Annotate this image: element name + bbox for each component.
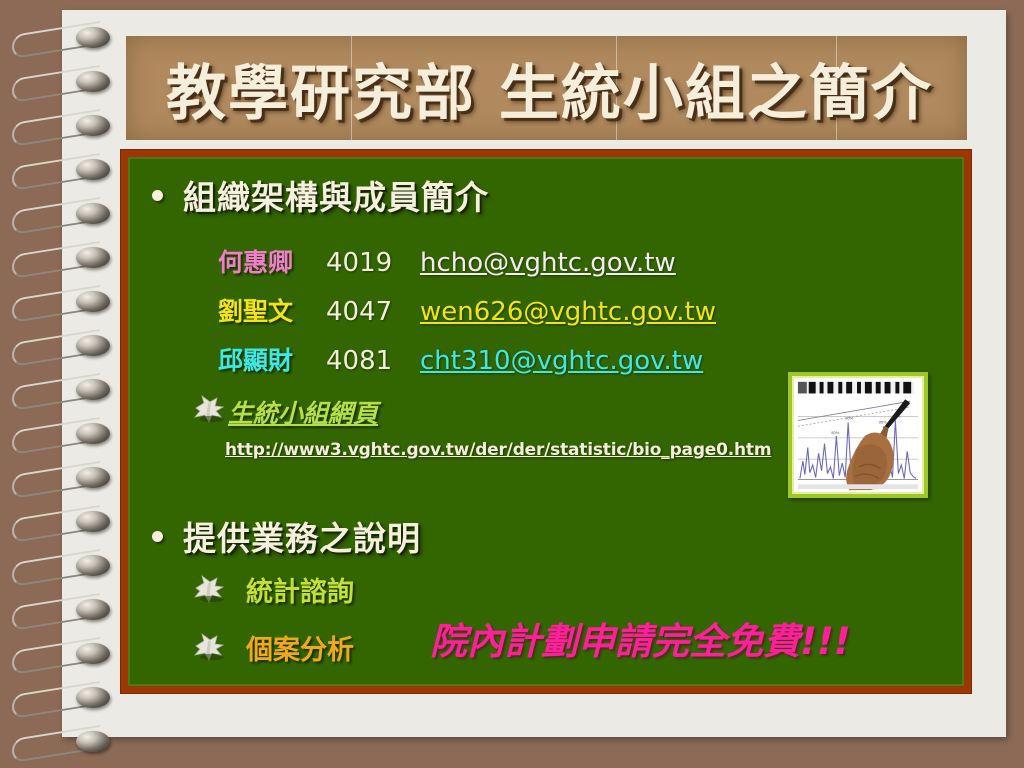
spiral-ring bbox=[12, 290, 120, 316]
contact-name: 何惠卿 bbox=[218, 243, 326, 279]
spiral-ring bbox=[12, 114, 120, 140]
svg-text:90%: 90% bbox=[845, 416, 853, 421]
page-title: 教學研究部 生統小組之簡介 bbox=[126, 45, 967, 132]
contact-name: 劉聖文 bbox=[218, 292, 326, 328]
spiral-ring bbox=[12, 686, 120, 712]
spiral-ring bbox=[12, 554, 120, 580]
section-2-heading-row: 提供業務之說明 bbox=[152, 512, 421, 560]
spiral-ring bbox=[12, 378, 120, 404]
spiral-ring bbox=[12, 598, 120, 624]
contact-name: 邱顯財 bbox=[218, 341, 326, 377]
spiral-ring bbox=[12, 422, 120, 448]
spiral-ring bbox=[12, 26, 120, 52]
free-application-slogan: 院內計劃申請完全免費!!! bbox=[430, 611, 851, 665]
spiral-ring bbox=[12, 510, 120, 536]
round-bullet-icon bbox=[152, 190, 163, 201]
contact-extension: 4019 bbox=[326, 248, 420, 278]
service-item: 統計諮詢 bbox=[246, 570, 354, 609]
contact-row: 劉聖文 4047 wen626@vghtc.gov.tw bbox=[218, 292, 716, 328]
spiral-ring bbox=[12, 730, 120, 756]
section-1-heading: 組織架構與成員簡介 bbox=[183, 171, 489, 219]
star-splat-bullet-icon bbox=[192, 574, 226, 604]
spiral-ring bbox=[12, 202, 120, 228]
star-splat-bullet-icon bbox=[192, 632, 226, 662]
spiral-ring bbox=[12, 70, 120, 96]
section-1-heading-row: 組織架構與成員簡介 bbox=[152, 171, 489, 219]
contact-extension: 4081 bbox=[326, 346, 420, 376]
chart-photo: 90% 95% 98% 80% 85% bbox=[792, 376, 924, 494]
contact-row: 邱顯財 4081 cht310@vghtc.gov.tw bbox=[218, 341, 703, 377]
contact-email-link[interactable]: hcho@vghtc.gov.tw bbox=[420, 248, 676, 278]
contact-email-link[interactable]: cht310@vghtc.gov.tw bbox=[420, 346, 703, 376]
slide-title-banner: 教學研究部 生統小組之簡介 bbox=[126, 36, 967, 140]
section-2-heading: 提供業務之說明 bbox=[183, 512, 421, 560]
chart-photo-frame: 90% 95% 98% 80% 85% bbox=[788, 372, 928, 498]
svg-text:95%: 95% bbox=[879, 419, 887, 424]
round-bullet-icon bbox=[152, 531, 163, 542]
spiral-ring bbox=[12, 466, 120, 492]
star-splat-bullet-icon bbox=[192, 394, 226, 424]
spiral-binding bbox=[0, 8, 122, 753]
spiral-ring bbox=[12, 246, 120, 272]
spiral-ring bbox=[12, 334, 120, 360]
contact-row: 何惠卿 4019 hcho@vghtc.gov.tw bbox=[218, 243, 676, 279]
spiral-ring bbox=[12, 158, 120, 184]
svg-text:80%: 80% bbox=[831, 430, 839, 435]
site-url-link[interactable]: http://www3.vghtc.gov.tw/der/der/statist… bbox=[225, 440, 771, 460]
spiral-ring bbox=[12, 642, 120, 668]
site-link[interactable]: 生統小組網頁 bbox=[228, 394, 378, 430]
contact-extension: 4047 bbox=[326, 297, 420, 327]
contact-email-link[interactable]: wen626@vghtc.gov.tw bbox=[420, 297, 716, 327]
service-item: 個案分析 bbox=[246, 628, 354, 667]
